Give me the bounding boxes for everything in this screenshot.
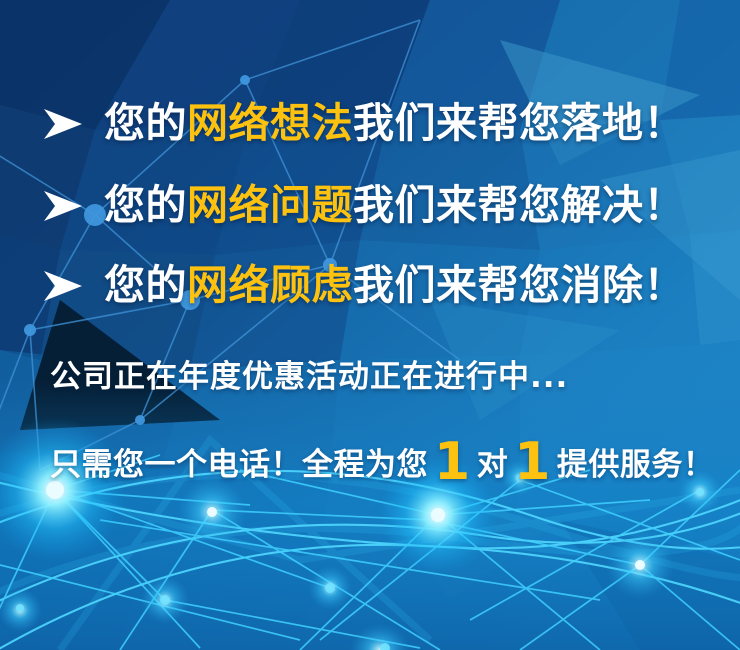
headline-row-1: 您的网络想法我们来帮您落地！ [42, 103, 685, 144]
headline-3-highlight: 网络顾虑 [187, 261, 353, 309]
service-number-one-second: 1 [508, 436, 557, 488]
headline-1-prefix: 您的 [104, 99, 187, 147]
headline-3-prefix: 您的 [104, 261, 187, 309]
arrow-right-icon [42, 269, 84, 303]
headline-3: 您的网络顾虑我们来帮您消除！ [104, 265, 685, 306]
service-text-part1: 只需您一个电话！全程为您 [50, 450, 428, 481]
service-text-mid: 对 [477, 450, 509, 481]
headline-1-highlight: 网络想法 [187, 99, 353, 147]
service-subline: 只需您一个电话！全程为您 1 对 1 提供服务！ [50, 432, 714, 484]
headline-2: 您的网络问题我们来帮您解决！ [104, 185, 685, 226]
headline-1-suffix: 我们来帮您落地！ [353, 99, 685, 147]
headline-2-prefix: 您的 [104, 181, 187, 229]
arrow-right-icon [42, 107, 84, 141]
headline-1: 您的网络想法我们来帮您落地！ [104, 103, 685, 144]
arrow-right-icon [42, 189, 84, 223]
headline-row-3: 您的网络顾虑我们来帮您消除！ [42, 265, 685, 306]
headline-2-suffix: 我们来帮您解决！ [353, 181, 685, 229]
service-text-part2: 提供服务！ [557, 450, 715, 481]
promo-banner: 您的网络想法我们来帮您落地！ 您的网络问题我们来帮您解决！ 您的网络顾虑我们来帮… [0, 0, 740, 650]
promo-subline: 公司正在年度优惠活动正在进行中... [50, 362, 568, 393]
headline-2-highlight: 网络问题 [187, 181, 353, 229]
service-number-one-first: 1 [428, 436, 477, 488]
headline-3-suffix: 我们来帮您消除！ [353, 261, 685, 309]
headline-row-2: 您的网络问题我们来帮您解决！ [42, 185, 685, 226]
